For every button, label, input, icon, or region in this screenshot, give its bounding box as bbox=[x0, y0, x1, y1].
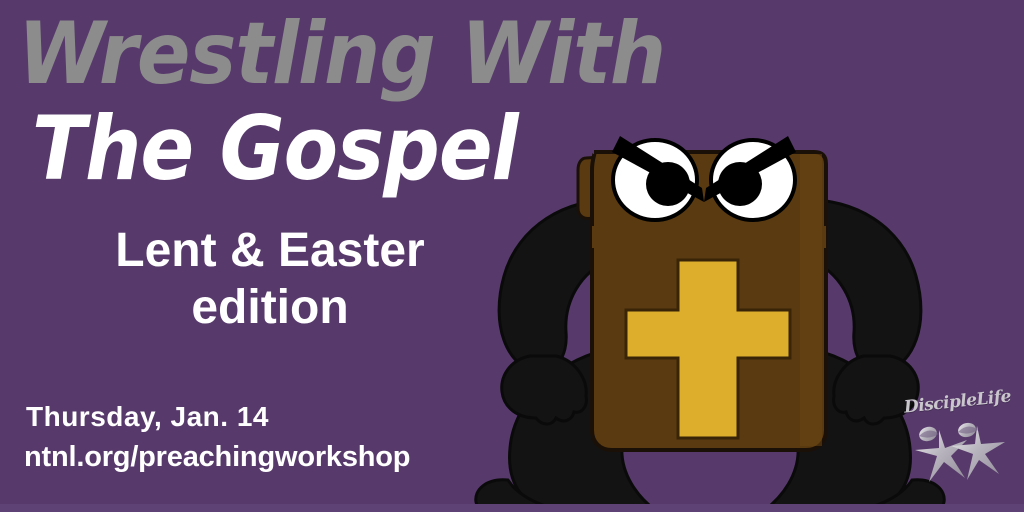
subtitle-line-1: Lent & Easter bbox=[115, 224, 424, 277]
event-url[interactable]: ntnl.org/preachingworkshop bbox=[24, 440, 410, 475]
headline-line-1: Wrestling With bbox=[18, 6, 814, 102]
subtitle: Lent & Easter edition bbox=[60, 222, 480, 336]
bottom-strip bbox=[0, 504, 1024, 512]
event-date: Thursday, Jan. 14 bbox=[26, 400, 269, 434]
disciplelife-logo: DiscipleLife bbox=[895, 390, 1020, 490]
angry-bible-mascot bbox=[470, 130, 950, 512]
poster-canvas: Wrestling With The Gospel Lent & Easter … bbox=[0, 0, 1024, 512]
subtitle-line-2: edition bbox=[60, 279, 480, 336]
